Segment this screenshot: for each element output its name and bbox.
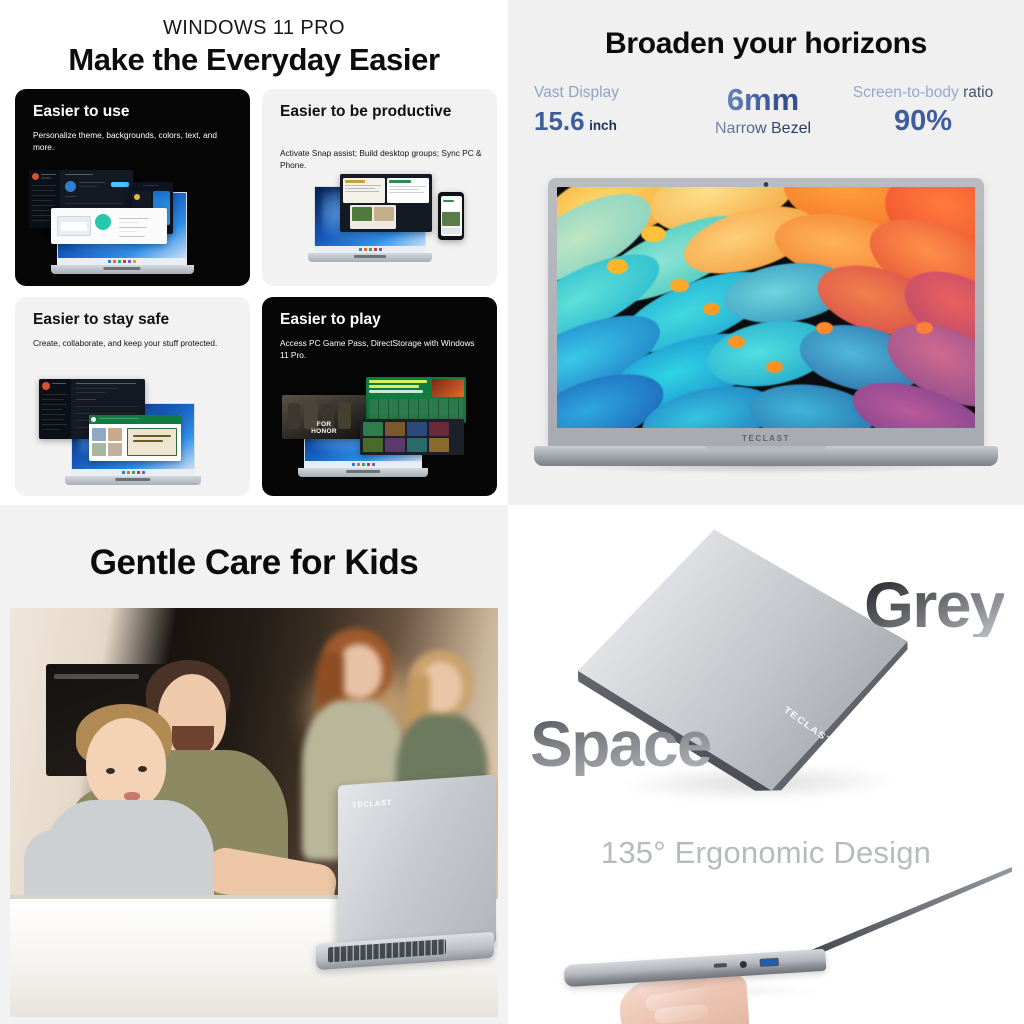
spec-value: 6mm	[688, 82, 838, 118]
card-easier-to-use: Easier to use Personalize theme, backgro…	[15, 89, 250, 286]
panel-display: Broaden your horizons Vast Display 15.6 …	[508, 0, 1024, 505]
brand-text: TECLAST	[352, 798, 392, 810]
laptop-brand-logo: TECLAST	[352, 798, 392, 810]
laptop-hinge-notch	[706, 446, 826, 451]
color-word-space: Space	[530, 712, 711, 776]
laptop-brand-logo: TECLAST	[548, 434, 984, 443]
spec-narrow-bezel: 6mm Narrow Bezel	[688, 82, 838, 138]
card-body: Personalize theme, backgrounds, colors, …	[33, 129, 238, 154]
spec-value: 90%	[828, 105, 1018, 138]
spec-label-text: Screen-to-body	[853, 84, 959, 101]
keyboard	[328, 939, 446, 962]
laptop-base	[534, 446, 998, 466]
spec-screen-to-body: Screen-to-body ratio 90%	[828, 84, 1018, 138]
product-infographic: WINDOWS 11 PRO Make the Everyday Easier …	[0, 0, 1024, 1024]
card-body: Access PC Game Pass, DirectStorage with …	[280, 337, 485, 362]
card-easier-to-stay-safe: Easier to stay safe Create, collaborate,…	[15, 297, 250, 496]
spec-unit: inch	[589, 118, 617, 133]
laptop-lid-back: TECLAST	[338, 774, 496, 953]
webcam-icon	[764, 182, 769, 187]
spec-label-accent: ratio	[963, 84, 993, 101]
windows-title: Make the Everyday Easier	[0, 42, 508, 78]
card-heading: Easier to play	[280, 311, 483, 329]
laptop-front-view: TECLAST	[534, 178, 998, 478]
family-photo: TECLAST	[10, 608, 498, 1017]
card-artwork-security	[15, 373, 250, 496]
card-easier-to-be-productive: Easier to be productive Activate Snap as…	[262, 89, 497, 286]
usb-3-port	[760, 958, 779, 967]
spec-vast-display: Vast Display 15.6 inch	[534, 84, 619, 137]
panel-color: TECLAST Grey Space 135° Ergonomic Design	[508, 505, 1024, 1024]
laptop-open-lid	[798, 867, 1012, 963]
panel-windows11: WINDOWS 11 PRO Make the Everyday Easier …	[0, 0, 508, 505]
card-artwork-productivity	[262, 164, 497, 286]
color-word-grey: Grey	[864, 573, 1004, 637]
card-body: Create, collaborate, and keep your stuff…	[33, 337, 238, 349]
laptop-lid: TECLAST	[548, 178, 984, 448]
spec-label: Screen-to-body ratio	[828, 84, 1018, 102]
kids-title: Gentle Care for Kids	[0, 543, 508, 583]
brand-text: TECLAST	[742, 434, 790, 443]
ergonomic-caption: 135° Ergonomic Design	[508, 835, 1024, 871]
boy-eye-left	[106, 768, 115, 774]
laptop-side-view-with-hand	[536, 873, 1014, 1023]
card-heading: Easier to use	[33, 103, 236, 121]
laptop-shadow	[564, 466, 968, 474]
boy-eye-right	[138, 766, 147, 772]
laptop-in-photo: TECLAST	[316, 780, 496, 972]
sd-card-slot-port	[714, 963, 727, 968]
display-title: Broaden your horizons	[508, 27, 1024, 61]
card-artwork-gaming: FORHONOR	[262, 373, 497, 496]
windows-kicker: WINDOWS 11 PRO	[0, 17, 508, 40]
spec-row: Vast Display 15.6 inch 6mm Narrow Bezel …	[522, 84, 1014, 162]
windows-card-grid: Easier to use Personalize theme, backgro…	[15, 89, 497, 496]
spec-sublabel: Narrow Bezel	[688, 120, 838, 138]
card-easier-to-play: Easier to play Access PC Game Pass, Dire…	[262, 297, 497, 496]
laptop-lid-profile	[798, 867, 1012, 963]
headphone-jack-port	[740, 960, 747, 967]
laptop-screen	[557, 187, 975, 428]
card-heading: Easier to stay safe	[33, 311, 236, 329]
card-artwork-settings	[15, 164, 250, 286]
spec-label: Vast Display	[534, 84, 619, 102]
panel-kids: Gentle Care for Kids	[0, 505, 508, 1024]
spec-value: 15.6	[534, 106, 585, 136]
card-heading: Easier to be productive	[280, 103, 483, 121]
